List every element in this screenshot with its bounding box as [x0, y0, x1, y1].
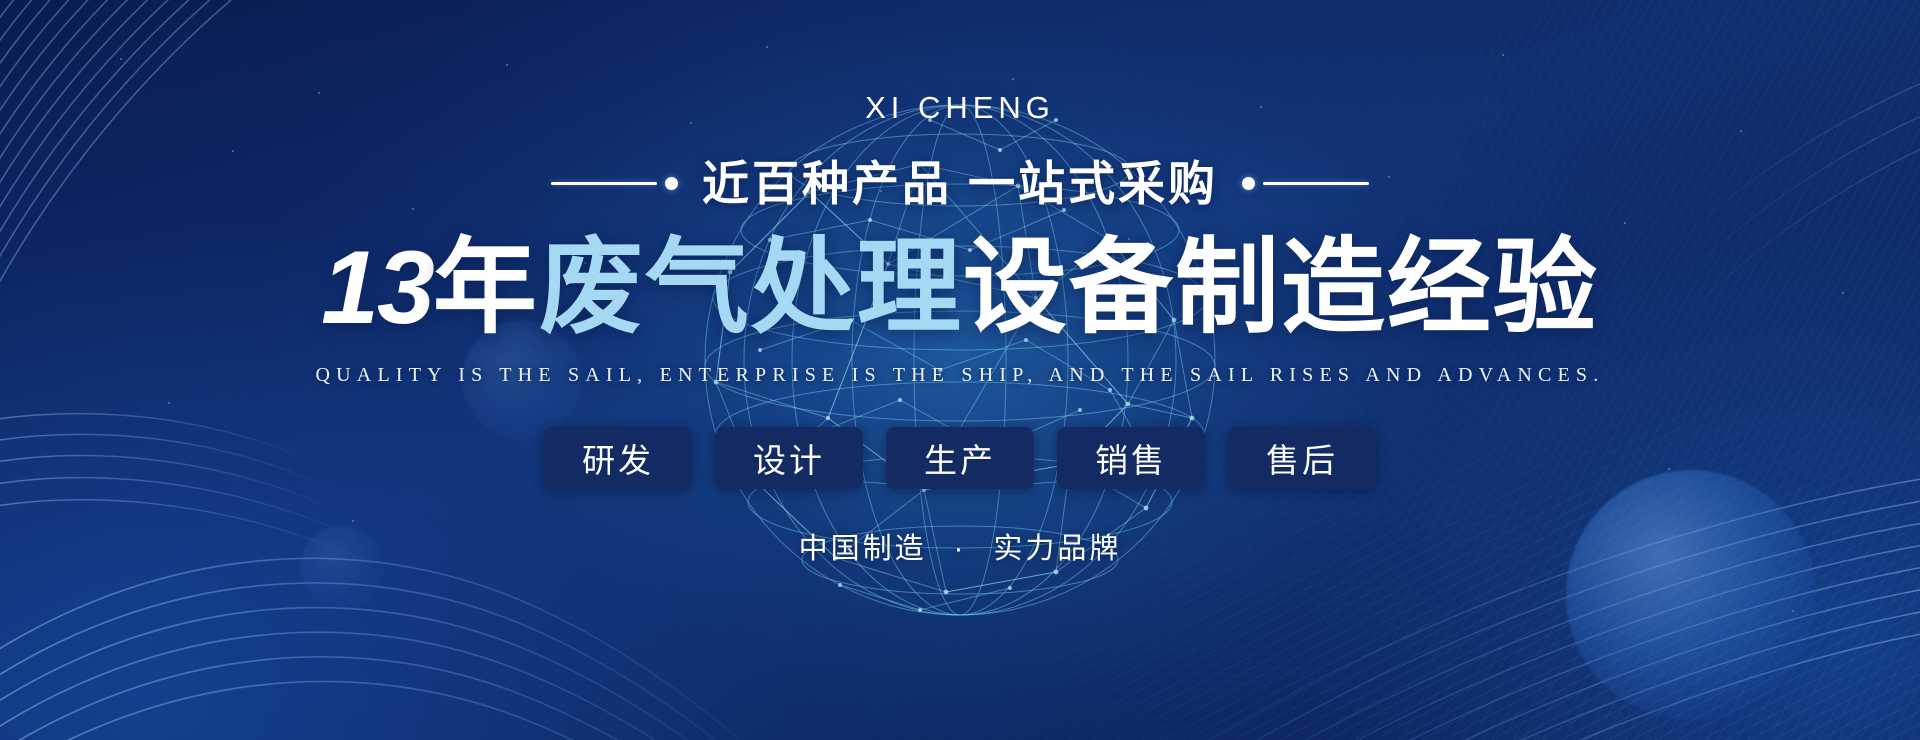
headline-years-unit: 年: [433, 230, 539, 346]
hero-banner: XI CHENG 近百种产品 一站式采购 13年废气处理设备制造经验 QUALI…: [0, 0, 1920, 740]
service-chip-list: 研发 设计 生产 销售 售后: [544, 427, 1376, 489]
right-rule-dot-icon: [1242, 177, 1255, 190]
chip-label: 生产: [924, 434, 996, 482]
headline-rest: 设备制造经验: [963, 230, 1599, 346]
chip-production[interactable]: 生产: [886, 427, 1034, 489]
headline-years-number: 13: [321, 230, 433, 346]
right-rule-decoration: [1242, 177, 1369, 190]
right-rule-line: [1263, 182, 1369, 185]
footnote-left: 中国制造: [799, 533, 927, 565]
subtitle-row: 近百种产品 一站式采购: [551, 160, 1369, 207]
banner-subtitle: 近百种产品 一站式采购: [702, 160, 1218, 207]
footnote: 中国制造 · 实力品牌: [799, 535, 1122, 564]
chip-rd[interactable]: 研发: [544, 427, 692, 489]
chip-label: 销售: [1095, 434, 1167, 482]
page-title: 13年废气处理设备制造经验: [321, 233, 1599, 343]
chip-sales[interactable]: 销售: [1057, 427, 1205, 489]
brand-name: XI CHENG: [865, 92, 1055, 123]
left-rule-dot-icon: [665, 177, 678, 190]
chip-after-sales[interactable]: 售后: [1228, 427, 1376, 489]
banner-content: XI CHENG 近百种产品 一站式采购 13年废气处理设备制造经验 QUALI…: [0, 0, 1920, 740]
headline-highlight: 废气处理: [539, 230, 963, 346]
left-rule-decoration: [551, 177, 678, 190]
english-tagline: QUALITY IS THE SAIL, ENTERPRISE IS THE S…: [316, 365, 1605, 385]
chip-label: 研发: [582, 434, 654, 482]
chip-design[interactable]: 设计: [715, 427, 863, 489]
chip-label: 售后: [1266, 434, 1338, 482]
left-rule-line: [551, 182, 657, 185]
chip-label: 设计: [753, 434, 825, 482]
footnote-right: 实力品牌: [993, 533, 1121, 565]
footnote-separator: ·: [954, 533, 967, 565]
